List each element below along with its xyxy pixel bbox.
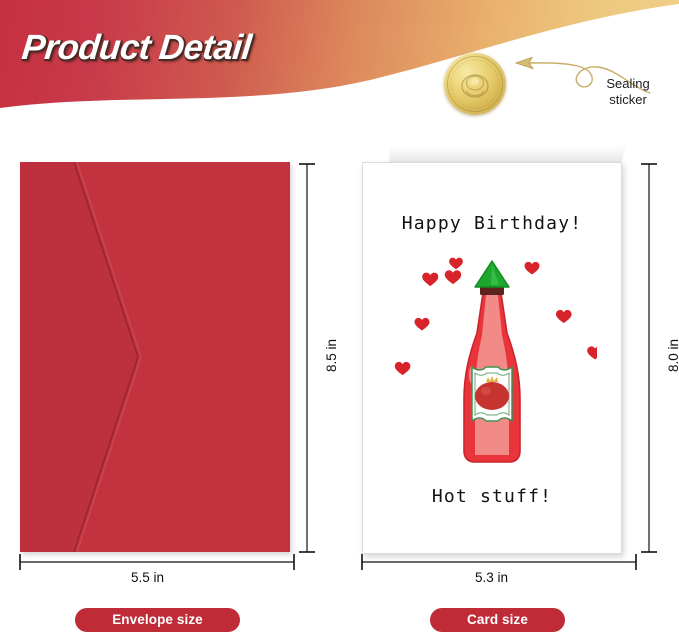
tomato-icon <box>475 382 509 410</box>
sealing-sticker-icon <box>444 53 506 115</box>
envelope-height-label: 8.5 in <box>324 339 339 372</box>
card-width-label: 5.3 in <box>475 570 508 585</box>
header-banner: Product Detail Sealing sticker <box>0 0 679 122</box>
card-height-label: 8.0 in <box>666 339 679 372</box>
ketchup-bottle-illustration <box>387 255 597 475</box>
card-width-dimension-line <box>358 552 640 572</box>
envelope-flap-seam <box>20 162 290 552</box>
envelope-body <box>20 162 290 552</box>
envelope-width-label: 5.5 in <box>131 570 164 585</box>
envelope-width-dimension-line <box>16 552 298 572</box>
card-greeting-text: Happy Birthday! <box>363 213 621 234</box>
greeting-card-figure: Happy Birthday! <box>362 146 634 552</box>
sealing-sticker-label: Sealing sticker <box>591 76 665 108</box>
card-height-dimension-line <box>638 160 660 556</box>
seal-label-line-2: sticker <box>591 92 665 108</box>
card-size-badge: Card size <box>430 608 565 632</box>
seal-label-line-1: Sealing <box>591 76 665 92</box>
seal-emboss-pattern <box>444 53 506 115</box>
card-front-panel: Happy Birthday! <box>362 162 622 554</box>
envelope-size-badge: Envelope size <box>75 608 240 632</box>
envelope-height-dimension-line <box>296 160 318 556</box>
envelope-figure <box>20 162 290 552</box>
page-title: Product Detail <box>20 28 253 68</box>
card-tagline-text: Hot stuff! <box>363 486 621 507</box>
